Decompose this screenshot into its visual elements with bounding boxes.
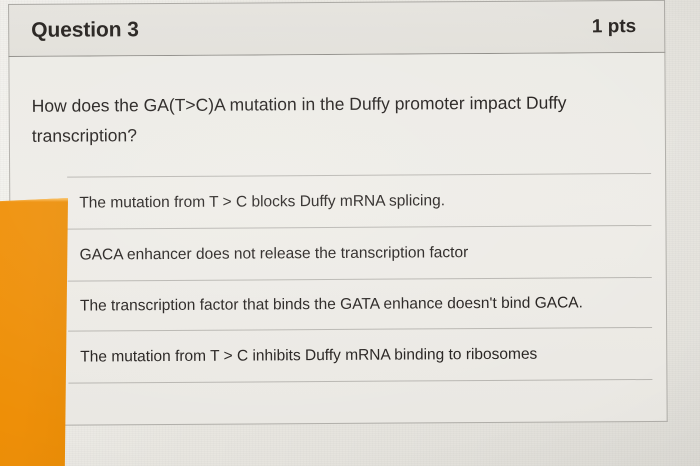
answer-option-3[interactable]: The transcription factor that binds the … <box>68 277 652 331</box>
question-prompt: How does the GA(T>C)A mutation in the Du… <box>32 87 632 151</box>
answer-options-list: The mutation from T > C blocks Duffy mRN… <box>67 173 652 384</box>
question-body: How does the GA(T>C)A mutation in the Du… <box>8 53 667 426</box>
answer-option-4[interactable]: The mutation from T > C inhibits Duffy m… <box>68 327 652 384</box>
question-header: Question 3 1 pts <box>8 0 665 57</box>
points-badge: 1 pts <box>592 16 640 38</box>
page-title: Question 3 <box>31 18 139 43</box>
question-card: Question 3 1 pts How does the GA(T>C)A m… <box>8 0 668 456</box>
answer-option-2[interactable]: GACA enhancer does not release the trans… <box>67 225 651 281</box>
orange-object-occlusion <box>0 198 68 466</box>
answer-option-1[interactable]: The mutation from T > C blocks Duffy mRN… <box>67 173 651 229</box>
